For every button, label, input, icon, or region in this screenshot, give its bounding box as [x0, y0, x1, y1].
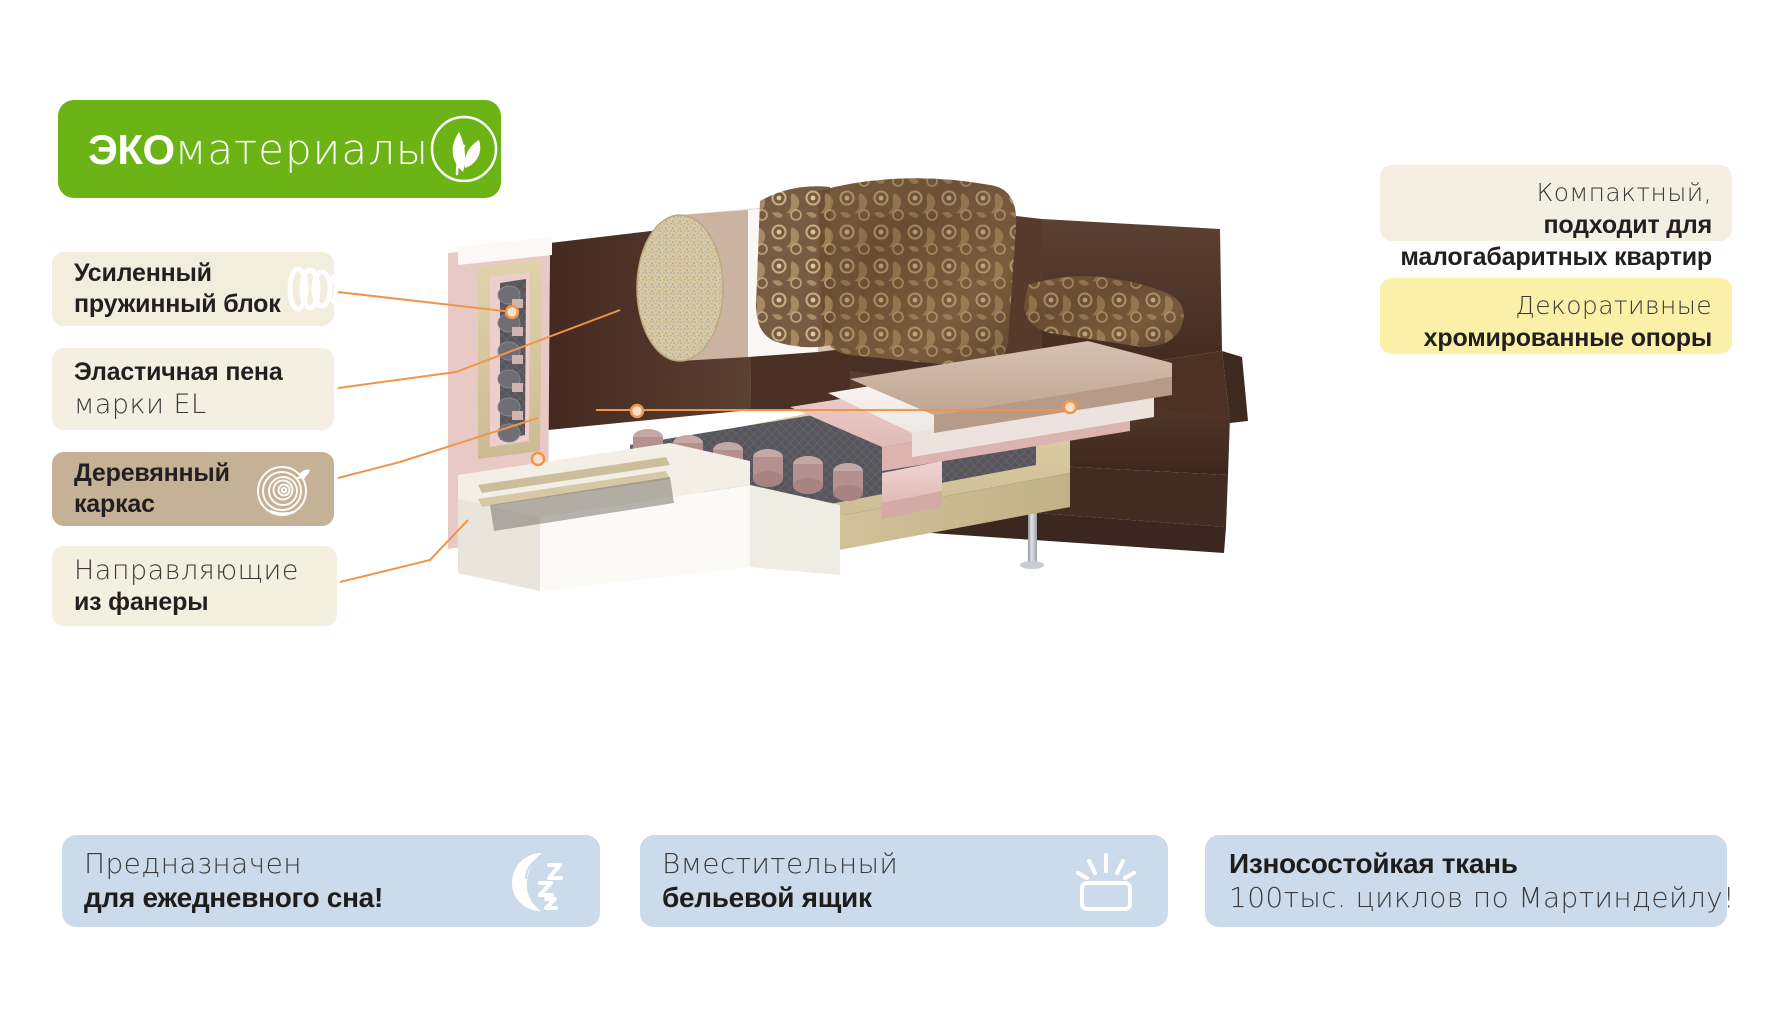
banner-line-2: 100тыс. циклов по Мартиндейлу!: [1229, 881, 1735, 915]
label-line-1-light: Компактный,: [1536, 178, 1712, 207]
eco-materials-badge: ЭКОматериалы: [58, 100, 501, 198]
label-compact-for-small-apartments: Компактный, подходит для малогабаритных …: [1380, 165, 1732, 241]
storage-box-icon: [1068, 845, 1144, 917]
label-line-2: хромированные опоры: [1400, 322, 1712, 354]
spring-coil-icon: [281, 257, 334, 321]
banner-line-2: бельевой ящик: [662, 881, 1068, 915]
banner-text: Предназначен для ежедневного сна!: [84, 847, 500, 915]
banner-line-1: Вместительный: [662, 847, 1068, 881]
eco-badge-text: ЭКОматериалы: [88, 125, 429, 174]
paisley-pillow-back: [756, 186, 832, 347]
label-line-1-bold: подходит для: [1544, 211, 1713, 239]
label-text: Усиленный пружинный блок: [74, 258, 281, 321]
label-wooden-frame: Деревянный каркас: [52, 452, 334, 526]
label-line-1: Декоративные: [1400, 290, 1712, 322]
label-text: Направляющие из фанеры: [74, 554, 319, 619]
banner-storage-box: Вместительный бельевой ящик: [640, 835, 1168, 927]
label-plywood-rails: Направляющие из фанеры: [52, 546, 337, 626]
label-line-1: Эластичная пена: [74, 357, 316, 388]
moon-zzz-icon: [500, 845, 576, 917]
label-line-1: Деревянный: [74, 458, 252, 489]
eco-badge-bold: ЭКО: [88, 126, 175, 173]
label-line-1: Усиленный: [74, 258, 281, 289]
paisley-pillow-large: [818, 178, 1016, 367]
label-line-2: малогабаритных квартир: [1400, 241, 1712, 273]
label-line-2: из фанеры: [74, 587, 319, 618]
label-line-1: Компактный, подходит для: [1400, 177, 1712, 241]
banner-text: Вместительный бельевой ящик: [662, 847, 1068, 915]
sofa-cutaway-illustration: [430, 155, 1260, 595]
banner-durable-fabric: Износостойкая ткань 100тыс. циклов по Ма…: [1205, 835, 1727, 927]
label-elastic-foam: Эластичная пена марки EL: [52, 348, 334, 430]
banner-line-2: для ежедневного сна!: [84, 881, 500, 915]
label-reinforced-spring-block: Усиленный пружинный блок: [52, 252, 334, 326]
wood-rings-icon: [252, 457, 316, 521]
banner-line-1: Предназначен: [84, 847, 500, 881]
label-text: Эластичная пена марки EL: [74, 357, 316, 422]
infographic-canvas: ЭКОматериалы Усиленный пружинный блок: [0, 0, 1780, 1030]
leaf-icon: [429, 114, 499, 184]
label-line-2: марки EL: [74, 388, 316, 422]
banner-daily-sleep: Предназначен для ежедневного сна!: [62, 835, 600, 927]
label-line-2: пружинный блок: [74, 289, 281, 320]
banner-text: Износостойкая ткань 100тыс. циклов по Ма…: [1229, 847, 1735, 915]
label-decorative-chrome-legs: Декоративные хромированные опоры: [1380, 278, 1732, 354]
banner-line-1: Износостойкая ткань: [1229, 847, 1735, 881]
eco-badge-light: материалы: [175, 125, 429, 174]
label-text: Деревянный каркас: [74, 458, 252, 521]
label-line-1: Направляющие: [74, 554, 319, 588]
label-line-2: каркас: [74, 489, 252, 520]
